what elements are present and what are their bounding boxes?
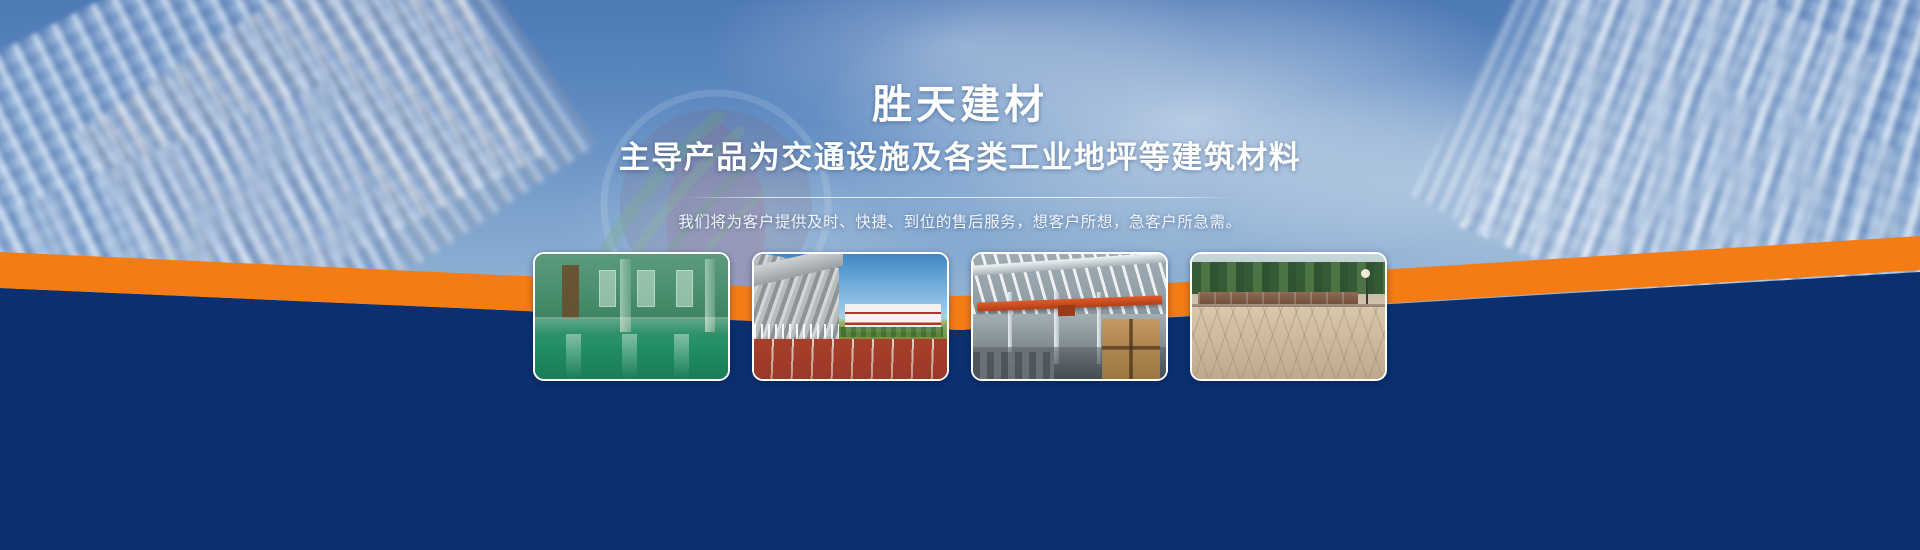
thumbnail-stamped-concrete-plaza[interactable]	[1190, 252, 1387, 381]
thumbnail-image-1	[535, 254, 728, 379]
tree-row-4	[1192, 262, 1385, 295]
reflection-1a	[566, 334, 581, 379]
banner-tagline: 我们将为客户提供及时、快捷、到位的售后服务，想客户所想，急客户所急需。	[0, 210, 1920, 232]
thumbnail-image-2	[754, 254, 947, 379]
door-1	[562, 265, 579, 318]
reflection-1c	[674, 334, 689, 379]
lamp-globe-4	[1361, 269, 1370, 278]
panel-1c	[676, 270, 693, 307]
track-shading-2	[754, 337, 947, 380]
thumbnail-image-4	[1192, 254, 1385, 379]
stored-goods-3	[973, 352, 1054, 380]
page-title: 胜天建材	[0, 82, 1920, 128]
panel-1b	[637, 270, 654, 307]
hero-banner: 胜天建材 主导产品为交通设施及各类工业地坪等建筑材料 我们将为客户提供及时、快捷…	[0, 0, 1920, 550]
banner-subtitle: 主导产品为交通设施及各类工业地坪等建筑材料	[0, 139, 1920, 178]
thumbnail-green-epoxy-floor[interactable]	[533, 252, 730, 381]
tree-row-2	[831, 327, 943, 337]
crate-straps-3	[1102, 319, 1160, 379]
reflection-1b	[622, 334, 637, 379]
thumbnail-running-track-stadium[interactable]	[752, 252, 949, 381]
text-divider	[684, 197, 1236, 198]
thumbnail-factory-interior-crane[interactable]	[971, 252, 1168, 381]
panel-1a	[599, 270, 616, 307]
stamped-concrete-paving-4	[1192, 307, 1385, 380]
banner-text-block: 胜天建材 主导产品为交通设施及各类工业地坪等建筑材料 我们将为客户提供及时、快捷…	[0, 82, 1920, 232]
thumbnail-image-3	[973, 254, 1166, 379]
crane-hoist-3	[1058, 305, 1076, 317]
thumbnail-gallery	[0, 252, 1920, 382]
